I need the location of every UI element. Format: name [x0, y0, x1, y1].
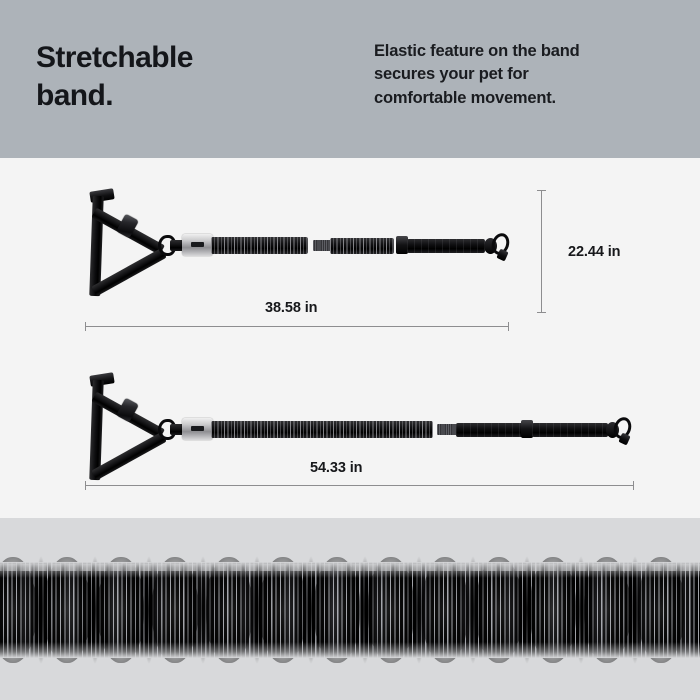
relaxed-dimension-cap-right: [508, 322, 509, 331]
products-panel: 22.44 in 38.58 in: [0, 158, 700, 518]
webbing-strap-stretched: [456, 423, 523, 437]
vertical-dimension-label: 22.44 in: [568, 244, 620, 260]
snap-hook-tail-relaxed: [496, 249, 508, 262]
macro-band-bottom-shade: [0, 642, 700, 658]
handle-lower-diagonal-strap-stretched: [91, 432, 166, 480]
snap-hook-tail-stretched: [618, 433, 630, 446]
leash-stretched: [0, 348, 700, 508]
vertical-dimension-line: [541, 190, 542, 312]
elastic-band-macro-photo: [0, 562, 700, 658]
elastic-band-macro-panel: [0, 518, 700, 700]
product-infographic: Stretchable band. Elastic feature on the…: [0, 0, 700, 700]
webbing-strap-stretched-2: [532, 423, 608, 437]
macro-band-top-shade: [0, 562, 700, 578]
elastic-band-stretched: [211, 421, 433, 438]
elastic-band-relaxed-2: [330, 238, 394, 254]
stretched-dimension-cap-right: [633, 481, 634, 490]
clasp-logo-relaxed: [191, 242, 204, 247]
page-title: Stretchable band.: [36, 39, 193, 115]
relaxed-length-label: 38.58 in: [265, 300, 317, 316]
vertical-dimension-cap-bottom: [537, 312, 546, 313]
webbing-strap-relaxed: [407, 239, 485, 253]
stretched-length-label: 54.33 in: [310, 460, 362, 476]
header-description: Elastic feature on the band secures your…: [374, 40, 579, 110]
clasp-logo-stretched: [191, 426, 204, 431]
header-band: Stretchable band. Elastic feature on the…: [0, 0, 700, 158]
handle-lower-diagonal-strap: [91, 248, 166, 296]
leash-relaxed: [0, 158, 700, 318]
reflective-tag-stretched: [437, 424, 457, 435]
relaxed-dimension-line: [85, 326, 508, 327]
elastic-band-relaxed: [211, 237, 308, 254]
stretched-dimension-line: [85, 485, 633, 486]
